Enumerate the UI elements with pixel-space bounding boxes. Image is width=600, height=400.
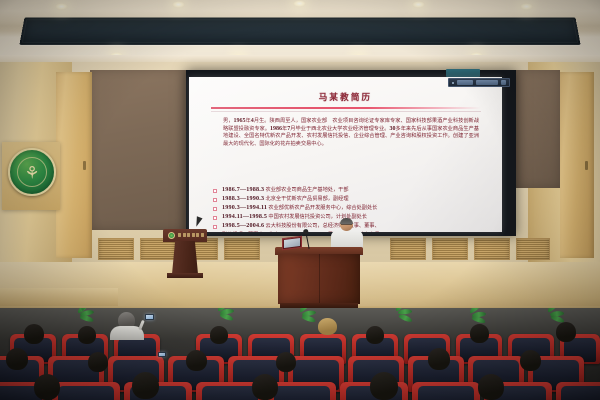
wall-vent-grille [98, 238, 134, 260]
bullet-square-icon [213, 225, 217, 229]
wall-vent-grille [390, 238, 426, 260]
side-door-left[interactable] [56, 72, 92, 258]
podium-secondary-base [167, 273, 203, 278]
audience-member [186, 350, 207, 371]
projector-top-badge [446, 69, 480, 77]
ceiling [0, 0, 600, 62]
audience-member [276, 352, 296, 372]
bullet-square-icon [213, 216, 217, 220]
speaker-glasses-icon [341, 224, 352, 227]
slide-title-rule [211, 107, 481, 109]
ceiling-downlight [520, 3, 533, 10]
slide-bullet-text: 1990.3—1994.11 农业部优新农产品开发服务中心，综合处副处长 [222, 205, 377, 212]
ceiling-downlight [293, 0, 306, 7]
mouse-cursor-icon [193, 216, 202, 227]
ceiling-downlight [412, 1, 425, 8]
audience-member [370, 372, 398, 400]
presentation-slide: 马某教简历 男，1965年4月生。陕西周至人，国家农业部 农业项目咨询论证专家库… [189, 77, 502, 232]
auditorium-seat[interactable] [556, 382, 600, 400]
emblem-plaque: ⚘ [2, 142, 60, 210]
wall-acoustic-panel-left [90, 70, 186, 230]
projection-screen: 马某教简历 男，1965年4月生。陕西周至人，国家农业部 农业项目咨询论证专家库… [186, 70, 516, 236]
slide-title: 马某教简历 [189, 91, 502, 103]
slide-intro-paragraph: 男，1965年4月生。陕西周至人，国家农业部 农业项目咨询论证专家库专家、国家科… [223, 118, 479, 148]
audience-member [556, 322, 576, 342]
ceiling-acoustic-band [19, 17, 580, 45]
audience-area [0, 308, 600, 400]
projector-osd-bar[interactable] [448, 78, 510, 87]
podium-secondary-top [163, 229, 207, 242]
audience-member [252, 374, 278, 400]
slide-bullet-text: 1988.3—1990.3 北京全干优新农产品贸易部，副经理 [222, 196, 349, 203]
ceiling-downlight [172, 1, 185, 8]
audience-member [34, 374, 60, 400]
smartphone[interactable] [158, 352, 166, 357]
university-emblem-icon: ⚘ [8, 148, 56, 196]
audience-member [88, 352, 108, 372]
audience-member [366, 326, 384, 344]
audience-member [478, 374, 504, 400]
wall-vent-grille [432, 238, 468, 260]
osd-chip [501, 80, 506, 85]
slide-bullet-row: 1986.7—1988.3 农业部农业司商品生产基地处，干部 [213, 187, 498, 194]
ceiling-downlight [55, 3, 68, 10]
wall-vent-grille [224, 238, 260, 260]
auditorium-seat[interactable] [52, 382, 120, 400]
audience-member [470, 324, 489, 343]
audience-member [428, 348, 450, 370]
wheat-icon: ⚘ [24, 164, 39, 181]
audience-member [78, 326, 96, 344]
podium-secondary [163, 229, 207, 279]
smartphone[interactable] [145, 314, 154, 320]
slide-title-rule-thin [211, 111, 481, 112]
wall-vent-grille [516, 238, 550, 260]
audience-arm [138, 320, 145, 330]
podium-nameplate [178, 233, 204, 237]
osd-chip [476, 80, 498, 85]
audience-member [210, 326, 228, 344]
laptop[interactable] [282, 237, 306, 251]
auditorium-seat[interactable] [412, 382, 480, 400]
wall-vent-grille [474, 238, 510, 260]
side-door-right[interactable] [560, 72, 594, 258]
audience-member [6, 348, 28, 370]
wall-acoustic-panel-right [516, 70, 560, 188]
bullet-square-icon [213, 189, 217, 193]
podium-secondary-column [172, 241, 198, 274]
slide-bullet-text: 1986.7—1988.3 农业部农业司商品生产基地处，干部 [222, 187, 349, 194]
auditorium-seat[interactable] [268, 382, 336, 400]
audience-member [318, 318, 337, 335]
bullet-square-icon [213, 198, 217, 202]
osd-chip [457, 80, 473, 85]
podium-main-seam [319, 254, 320, 304]
audience-member [24, 324, 44, 344]
audience-member [132, 372, 159, 399]
podium-main [275, 247, 363, 309]
podium-emblem-icon [168, 232, 175, 239]
bullet-square-icon [213, 207, 217, 211]
auditorium-scene: ⚘ 马某教简历 男，1965年4月生。陕西周至人，国家农业部 农业项目咨询论证专… [0, 0, 600, 400]
osd-indicator-dot [452, 82, 454, 84]
slide-bullet-row: 1990.3—1994.11 农业部优新农产品开发服务中心，综合处副处长 [213, 205, 498, 212]
slide-bullet-row: 1988.3—1990.3 北京全干优新农产品贸易部，副经理 [213, 196, 498, 203]
audience-member [520, 350, 541, 371]
